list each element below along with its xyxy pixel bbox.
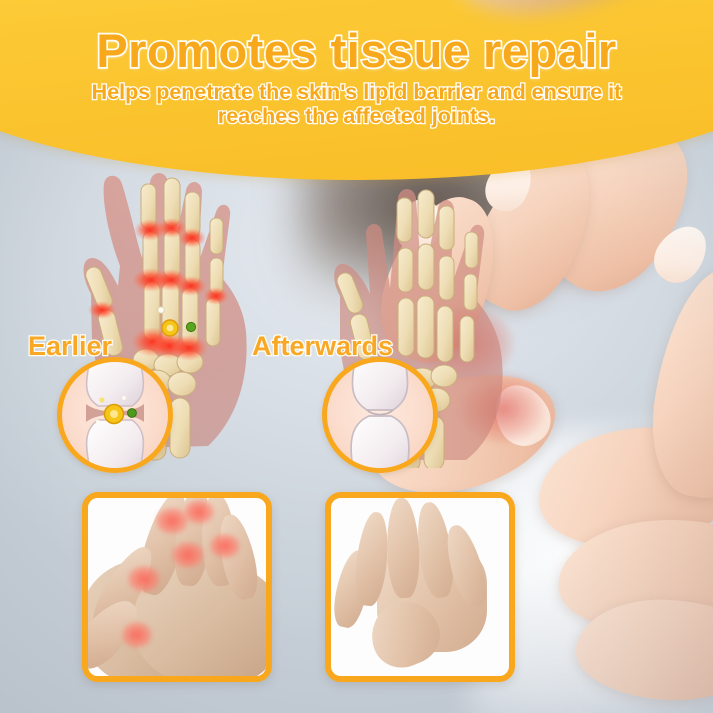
subtitle-line-2: reaches the affected joints.	[49, 104, 664, 128]
relieved-hand-photo	[325, 492, 515, 682]
page-subtitle: Helps penetrate the skin's lipid barrier…	[49, 80, 664, 128]
label-earlier: Earlier	[28, 331, 112, 362]
healthy-joint-closeup	[322, 357, 438, 473]
header-text-group: Promotes tissue repair Helps penetrate t…	[0, 0, 713, 128]
inflamed-joint-closeup	[57, 357, 173, 473]
subtitle-line-1: Helps penetrate the skin's lipid barrier…	[92, 80, 622, 104]
promo-banner: Promotes tissue repair Helps penetrate t…	[0, 0, 713, 713]
page-title: Promotes tissue repair	[0, 0, 713, 74]
arthritic-hands-photo	[82, 492, 272, 682]
